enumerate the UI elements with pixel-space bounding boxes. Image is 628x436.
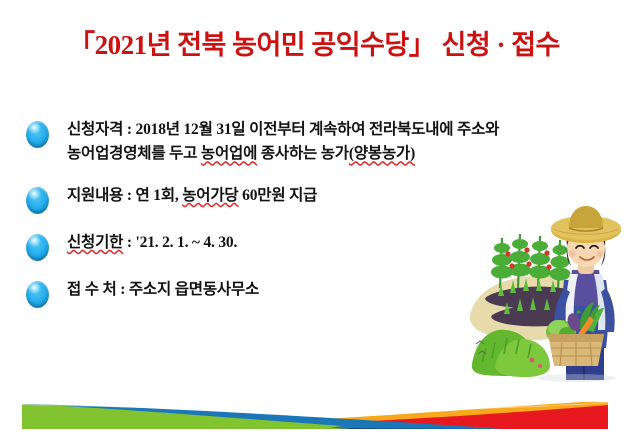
bullet-list: 신청자격 : 2018년 12월 31일 이전부터 계속하여 전라북도내에 주소…	[26, 118, 496, 325]
slide-canvas: 「2021년 전북 농어민 공익수당」 신청 · 접수 신청자격 : 2018년…	[0, 0, 628, 436]
misspelled-word: 농어가당	[182, 187, 238, 204]
straw-hat	[551, 206, 621, 243]
wave-band-svg	[22, 402, 608, 429]
list-item-line: 지원내용 : 연 1회, 농어가당 60만원 지급	[67, 184, 496, 208]
blue-sphere-bullet-icon	[26, 187, 49, 214]
farmer-with-vegetable-basket-illustration	[466, 204, 626, 382]
basket-rim	[548, 334, 604, 342]
decorative-wave-band	[22, 402, 608, 429]
farmer-illustration-svg	[466, 204, 626, 382]
list-item-text: 접 수 처 : 주소지 읍면동사무소	[67, 278, 496, 302]
list-item: 신청자격 : 2018년 12월 31일 이전부터 계속하여 전라북도내에 주소…	[26, 118, 496, 167]
list-item: 접 수 처 : 주소지 읍면동사무소	[26, 278, 496, 308]
list-item-text: 지원내용 : 연 1회, 농어가당 60만원 지급	[67, 184, 496, 208]
ground-shadow	[536, 374, 616, 382]
small-flower-icon	[538, 364, 542, 368]
list-item-line: 신청기한 : '21. 2. 1. ~ 4. 30.	[67, 231, 496, 255]
list-item-line: 신청자격 : 2018년 12월 31일 이전부터 계속하여 전라북도내에 주소…	[67, 118, 499, 142]
text-segment: 지원내용 : 연 1회,	[67, 187, 182, 204]
list-item-line: 농어업경영체를 두고 농어업에 종사하는 농가(양봉농가)	[67, 142, 499, 166]
list-item-text: 신청자격 : 2018년 12월 31일 이전부터 계속하여 전라북도내에 주소…	[67, 118, 499, 167]
misspelled-word: (양봉농가)	[349, 145, 415, 162]
text-segment: 60만원 지급	[239, 187, 318, 204]
blue-sphere-bullet-icon	[26, 121, 49, 148]
list-item-line: 접 수 처 : 주소지 읍면동사무소	[67, 278, 496, 302]
misspelled-word: 신청기한	[67, 234, 123, 251]
text-segment: : '21. 2. 1. ~ 4. 30.	[123, 234, 237, 251]
title-block: 「2021년 전북 농어민 공익수당」 신청 · 접수	[0, 30, 628, 61]
list-item: 지원내용 : 연 1회, 농어가당 60만원 지급	[26, 184, 496, 214]
blue-sphere-bullet-icon	[26, 234, 49, 261]
list-item-text: 신청기한 : '21. 2. 1. ~ 4. 30.	[67, 231, 496, 255]
text-segment: 농어업경영체를 두고	[67, 145, 201, 162]
cheek-left	[569, 251, 576, 258]
cheek-right	[597, 251, 604, 258]
misspelled-word: 농어업에	[201, 145, 257, 162]
page-title: 「2021년 전북 농어민 공익수당」 신청 · 접수	[68, 30, 560, 61]
hat-crown	[569, 206, 603, 228]
text-segment: 종사하는 농가	[257, 145, 349, 162]
blue-sphere-bullet-icon	[26, 281, 49, 308]
list-item: 신청기한 : '21. 2. 1. ~ 4. 30.	[26, 231, 496, 261]
small-flower-icon	[530, 358, 535, 363]
